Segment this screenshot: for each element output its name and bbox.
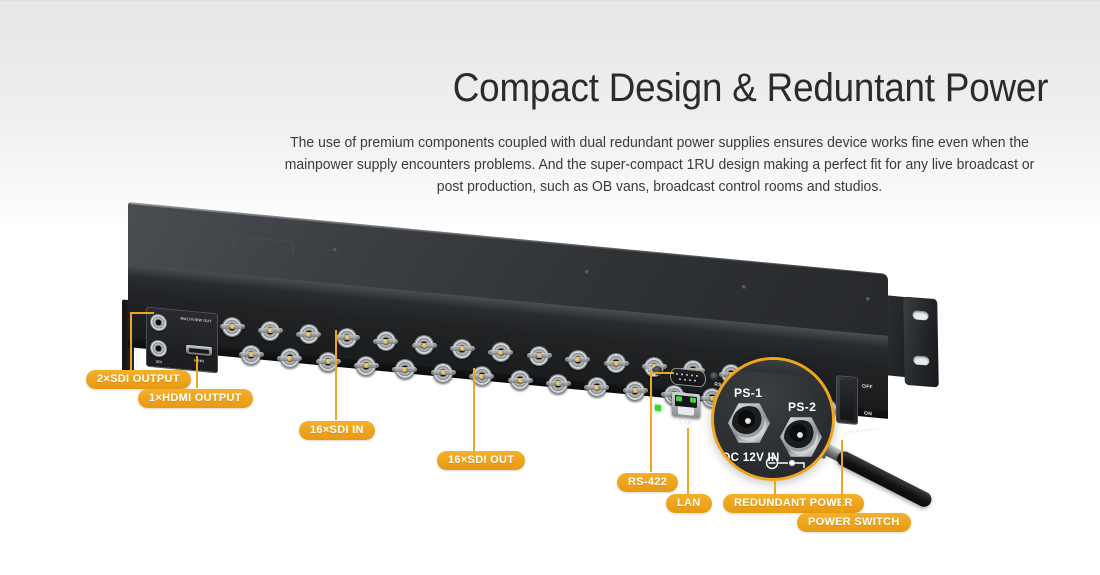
callout-sdi-out: 16×SDI OUT: [437, 451, 525, 470]
bnc-center-pin: [518, 378, 523, 383]
switch-on-label: ON: [864, 411, 872, 418]
leader-power-switch: [841, 440, 843, 513]
bnc-center-pin: [383, 339, 388, 344]
chassis-screw: [333, 248, 337, 252]
page-title: Compact Design & Reduntant Power: [453, 68, 1048, 108]
bnc-center-pin: [345, 335, 350, 340]
chassis-screw: [866, 297, 870, 301]
label-lan: LAN: [672, 419, 700, 428]
leader-hdmi-output: [196, 356, 198, 388]
power-section-magnifier: PS-1 PS-2 DC 12V IN: [711, 357, 835, 481]
leader-sdi-output-h: [130, 312, 154, 314]
chassis-screw: [585, 270, 589, 274]
bnc-center-pin: [614, 361, 619, 366]
callout-hdmi-output: 1×HDMI OUTPUT: [138, 389, 253, 408]
rack-ear-slot: [912, 310, 928, 320]
rs422-db9-port: [670, 367, 706, 387]
bnc-center-pin: [287, 356, 292, 361]
ps2-label: PS-2: [788, 400, 816, 414]
leader-sdi-out: [473, 368, 475, 451]
callout-sdi-output: 2×SDI OUTPUT: [86, 370, 191, 389]
bnc-center-pin: [268, 328, 273, 333]
callout-lan: LAN: [666, 494, 712, 513]
leader-rs422-h: [650, 372, 674, 374]
power-rocker-switch[interactable]: [836, 375, 858, 425]
bnc-center-pin: [249, 352, 254, 357]
callout-sdi-in: 16×SDI IN: [299, 421, 375, 440]
bnc-center-pin: [306, 332, 311, 337]
rack-ear-right: [903, 297, 939, 388]
leader-sdi-output: [130, 312, 132, 370]
switch-off-label: OFF: [862, 383, 873, 390]
lan-rj45-port: [672, 392, 700, 419]
dc-polarity-icon: [764, 456, 816, 470]
status-led: [655, 405, 661, 412]
bnc-center-pin: [364, 363, 369, 368]
psu-connector-2: [780, 416, 822, 458]
page-description: The use of premium components coupled wi…: [284, 132, 1036, 198]
rack-ear-slot: [913, 355, 929, 365]
bnc-center-pin: [230, 324, 235, 329]
product-feature-banner: Compact Design & Reduntant Power The use…: [0, 0, 1100, 575]
bnc-center-pin: [422, 343, 427, 348]
psu-connector-1: [728, 402, 770, 444]
device-illustration: MULTIVIEW OUT SDI HDMI IN OUT RS LAN: [0, 200, 1100, 500]
magnifier-chassis-top: [711, 357, 835, 382]
ps1-label: PS-1: [734, 386, 762, 400]
callout-rs422: RS-422: [617, 473, 678, 492]
backdrop-top-edge: [0, 0, 1100, 3]
leader-rs422: [650, 372, 652, 472]
leader-lan: [687, 428, 689, 494]
callout-power-switch: POWER SWITCH: [797, 513, 911, 532]
chassis-screw: [742, 285, 746, 289]
leader-sdi-in: [335, 330, 337, 420]
